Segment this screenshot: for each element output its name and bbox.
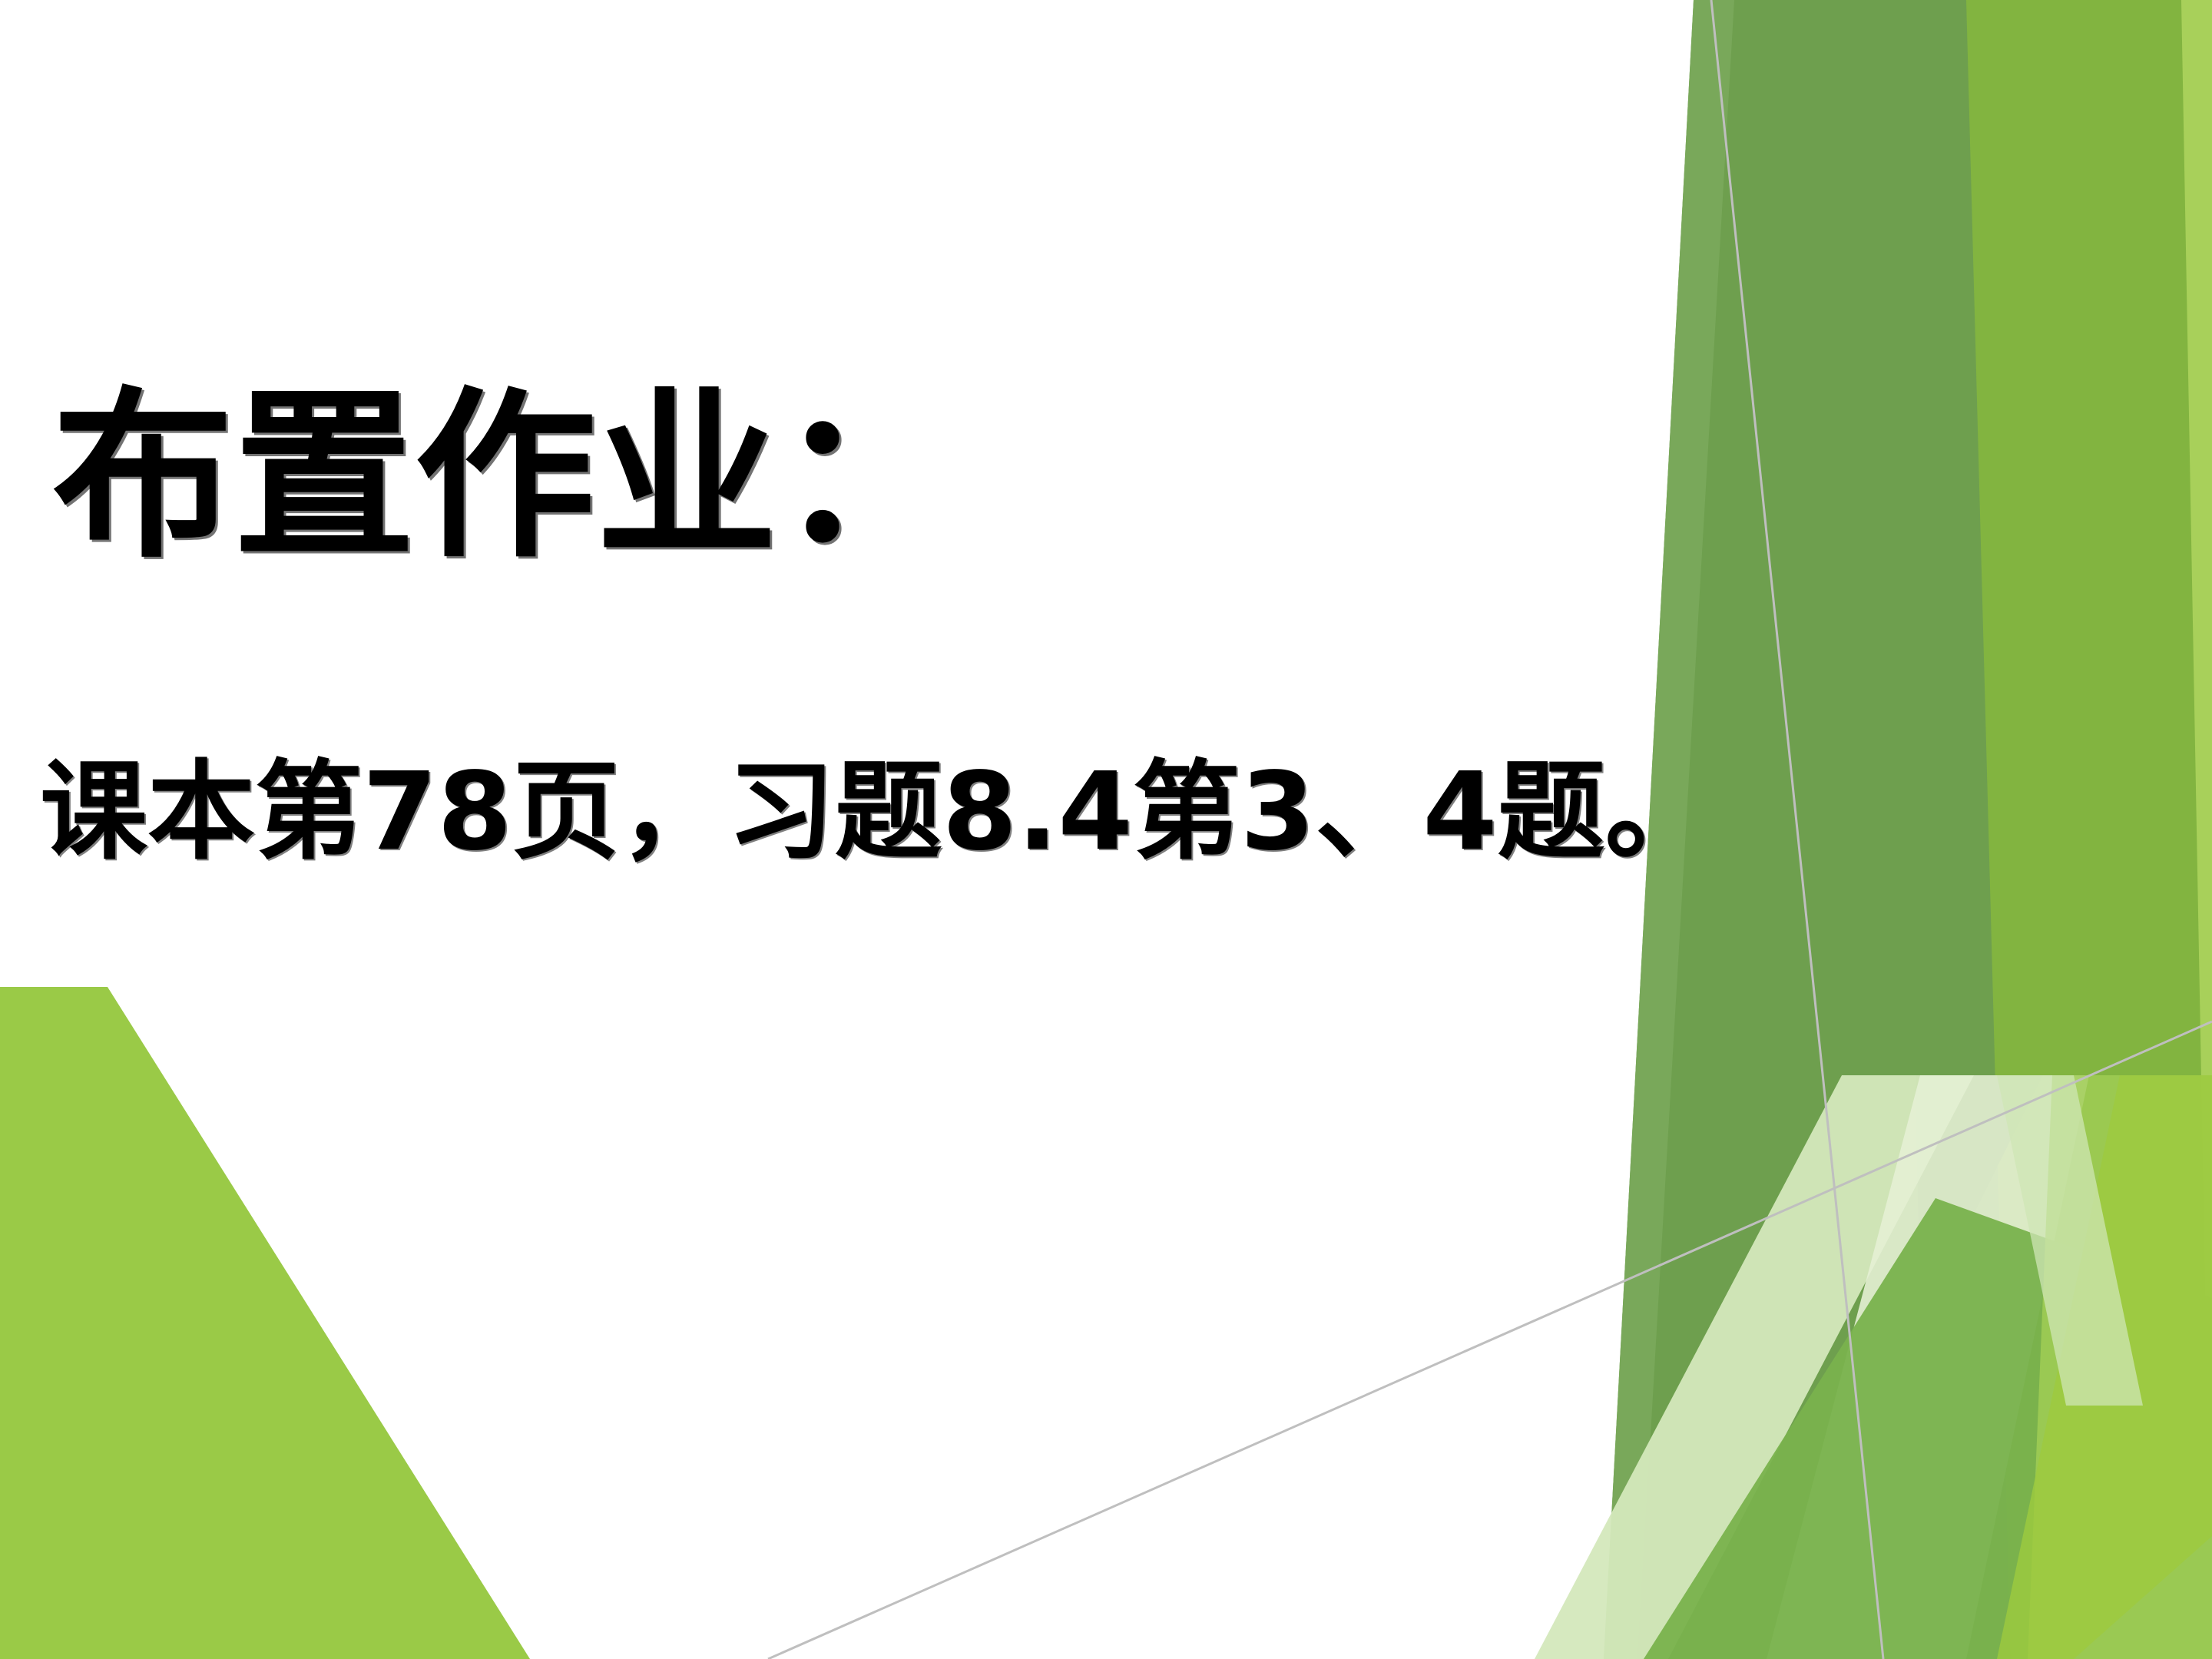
bright-green-band [1859,0,2212,1659]
lower-right-light-wedge [2028,1075,2212,1659]
slide-canvas: 布置作业： 课本第78页，习题8.4第3、4题。 [0,0,2212,1659]
page-title: 布置作业： [52,386,959,568]
lower-bright-overlap [1997,1075,2212,1659]
upper-right-pale-facet [1997,1075,2143,1406]
slide-body-text: 课本第78页，习题8.4第3、4题。 [40,759,1713,866]
slide-text-block: 布置作业： 课本第78页，习题8.4第3、4题。 [0,0,1843,1659]
deep-green-triangle [1916,1075,2043,1321]
right-edge-light-band [2051,0,2212,1659]
